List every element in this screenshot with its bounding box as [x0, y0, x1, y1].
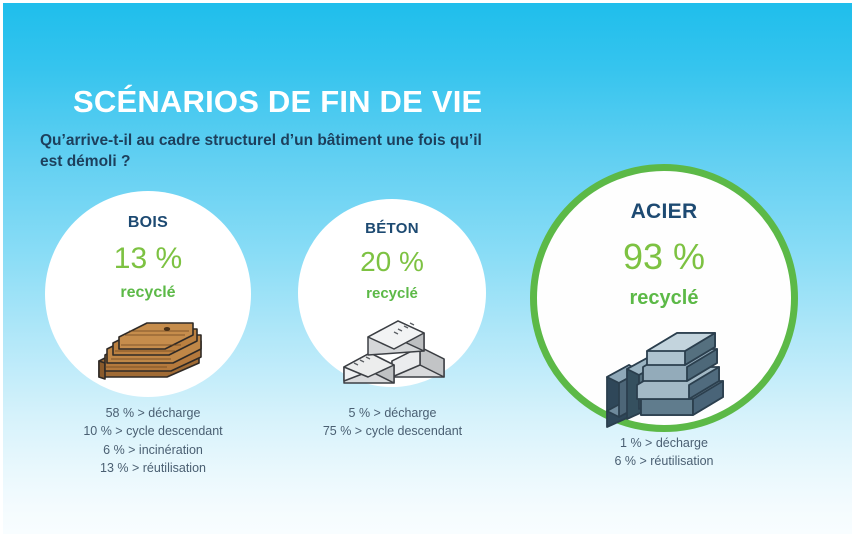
material-circle-beton: BÉTON 20 % recyclé: [298, 199, 486, 387]
fate-line: 10 % > cycle descendant: [63, 422, 243, 440]
material-percent-beton: 20 %: [360, 248, 424, 276]
material-recycled-label-beton: recyclé: [366, 286, 418, 301]
page-subtitle: Qu’arrive-t-il au cadre structurel d’un …: [40, 131, 495, 173]
infographic-canvas: SCÉNARIOS DE FIN DE VIE Qu’arrive-t-il a…: [0, 0, 855, 537]
fate-line: 75 % > cycle descendant: [300, 422, 485, 440]
material-name-acier: ACIER: [631, 201, 698, 222]
fate-line: 6 % > incinération: [63, 441, 243, 459]
material-name-bois: BOIS: [128, 215, 168, 231]
caption-acier: 1 % > décharge 6 % > réutilisation: [574, 434, 754, 471]
fate-line: 1 % > décharge: [574, 434, 754, 452]
fate-line: 13 % > réutilisation: [63, 459, 243, 477]
caption-bois: 58 % > décharge 10 % > cycle descendant …: [63, 404, 243, 477]
caption-beton: 5 % > décharge 75 % > cycle descendant: [300, 404, 485, 441]
page-title: SCÉNARIOS DE FIN DE VIE: [73, 85, 593, 119]
material-percent-bois: 13 %: [114, 244, 182, 274]
material-recycled-label-bois: recyclé: [120, 285, 175, 301]
material-percent-acier: 93 %: [623, 239, 705, 275]
material-circle-acier: ACIER 93 % recyclé: [530, 164, 798, 432]
steel-beams-icon: [599, 325, 729, 431]
material-recycled-label-acier: recyclé: [630, 288, 699, 308]
fate-line: 58 % > décharge: [63, 404, 243, 422]
fate-line: 6 % > réutilisation: [574, 452, 754, 470]
concrete-blocks-icon: [336, 311, 448, 391]
header-block: SCÉNARIOS DE FIN DE VIE Qu’arrive-t-il a…: [73, 85, 593, 173]
material-name-beton: BÉTON: [365, 221, 419, 236]
material-circle-bois: BOIS 13 % recyclé: [45, 191, 251, 397]
fate-line: 5 % > décharge: [300, 404, 485, 422]
wood-planks-icon: [89, 315, 207, 387]
